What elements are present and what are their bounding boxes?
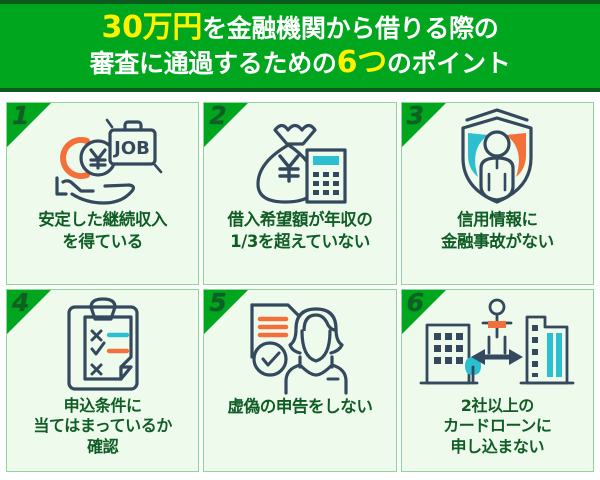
point-number-2: 2 bbox=[209, 103, 226, 129]
point-card-1: 1 JOB 安定した継続収入 bbox=[6, 102, 199, 285]
header-line2-tail: のポイント bbox=[387, 49, 511, 78]
header-line1-rest: を金融機関から借りる際の bbox=[202, 14, 498, 43]
point-card-3: 3 信用情報に 金融事故がない bbox=[401, 102, 594, 285]
point-number-3: 3 bbox=[407, 103, 424, 129]
header-point-count: 6つ bbox=[337, 45, 387, 80]
point-label-3: 信用情報に 金融事故がない bbox=[441, 209, 554, 253]
point-label-wrap-6: 2社以上の カードローンに 申し込まない bbox=[402, 394, 593, 471]
header-title-line-1: 30万円を金融機関から借りる際の bbox=[102, 11, 499, 46]
point-number-6: 6 bbox=[407, 290, 424, 316]
header-line2-lead: 審査に通過するための bbox=[90, 49, 337, 78]
point-card-2: 2 借入希 bbox=[203, 102, 396, 285]
point-label-wrap-3: 信用情報に 金融事故がない bbox=[402, 207, 593, 284]
point-card-5: 5 bbox=[203, 289, 396, 472]
point-label-wrap-2: 借入希望額が年収の 1/3を超えていない bbox=[204, 207, 395, 284]
point-number-5: 5 bbox=[209, 290, 226, 316]
point-label-wrap-5: 虚偽の申告をしない bbox=[204, 394, 395, 471]
point-label-6: 2社以上の カードローンに 申し込まない bbox=[443, 396, 551, 457]
point-card-4: 4 bbox=[6, 289, 199, 472]
header-amount: 30万円 bbox=[102, 10, 203, 45]
point-label-2: 借入希望額が年収の 1/3を超えていない bbox=[228, 209, 373, 253]
point-label-5: 虚偽の申告をしない bbox=[228, 396, 373, 418]
header-banner: 30万円を金融機関から借りる際の 審査に通過するための6つのポイント bbox=[0, 0, 600, 92]
svg-text:JOB: JOB bbox=[112, 138, 150, 159]
infographic-page: 30万円を金融機関から借りる際の 審査に通過するための6つのポイント 1 JOB bbox=[0, 0, 600, 480]
point-label-1: 安定した継続収入 を得ている bbox=[38, 209, 167, 253]
point-number-4: 4 bbox=[12, 290, 29, 316]
header-title-line-2: 審査に通過するための6つのポイント bbox=[90, 46, 511, 81]
point-label-wrap-4: 申込条件に 当てはまっているか 確認 bbox=[7, 394, 198, 471]
point-label-wrap-1: 安定した継続収入 を得ている bbox=[7, 207, 198, 284]
point-number-1: 1 bbox=[12, 103, 29, 129]
points-grid: 1 JOB 安定した継続収入 bbox=[0, 96, 600, 480]
point-card-6: 6 bbox=[401, 289, 594, 472]
point-label-4: 申込条件に 当てはまっているか 確認 bbox=[33, 396, 172, 457]
